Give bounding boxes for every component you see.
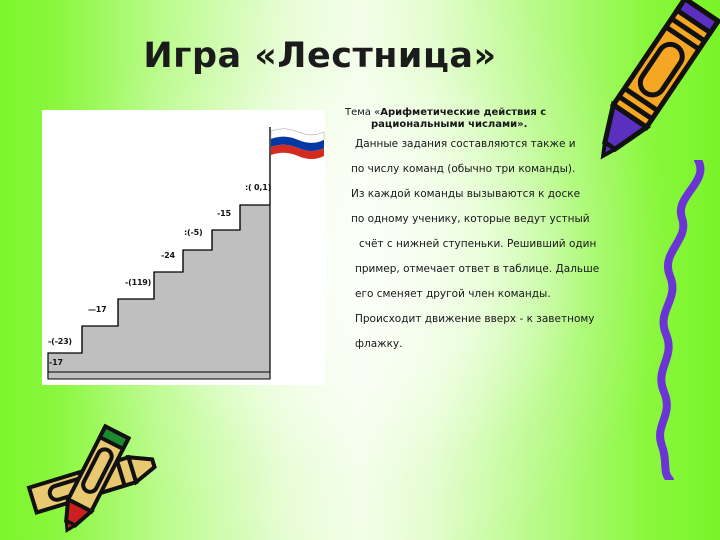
step-label-2: -(-23) <box>48 338 72 346</box>
step-label-7: -15 <box>217 210 231 218</box>
crossed-crayons-icon <box>22 418 182 538</box>
step-label-6: :(-5) <box>184 229 202 237</box>
description-line-3: Из каждой команды вызываются к доске <box>345 189 660 200</box>
step-label-1: -17 <box>49 359 63 367</box>
orange-crayon-icon <box>588 0 720 174</box>
staircase-panel: -17 -(-23) —17 -(119) -24 :(-5) -15 :( 0… <box>42 110 325 385</box>
topic-prefix: Тема « <box>345 107 380 118</box>
description-line-6: пример, отмечает ответ в таблице. Дальше <box>345 264 660 275</box>
staircase-base <box>48 372 270 379</box>
step-label-3: —17 <box>88 306 107 314</box>
description-line-8: Происходит движение вверх - к заветному <box>345 314 660 325</box>
description-line-9: флажку. <box>345 339 660 350</box>
description-line-7: его сменяет другой член команды. <box>345 289 660 300</box>
slide-canvas: Игра «Лестница» <box>0 0 720 540</box>
russian-flag-icon <box>270 127 324 205</box>
topic-bold-1: Арифметические действия с <box>380 107 546 118</box>
step-label-4: -(119) <box>125 279 151 287</box>
staircase-body <box>48 205 270 378</box>
step-label-5: -24 <box>161 252 175 260</box>
description-line-5: счёт с нижней ступеньки. Решивший один <box>345 239 660 250</box>
description-line-4: по одному ученику, которые ведут устный <box>345 214 660 225</box>
page-title: Игра «Лестница» <box>60 36 580 76</box>
step-label-8: :( 0,1) <box>245 184 271 192</box>
purple-squiggle-icon <box>648 160 720 480</box>
staircase-diagram <box>42 110 325 385</box>
